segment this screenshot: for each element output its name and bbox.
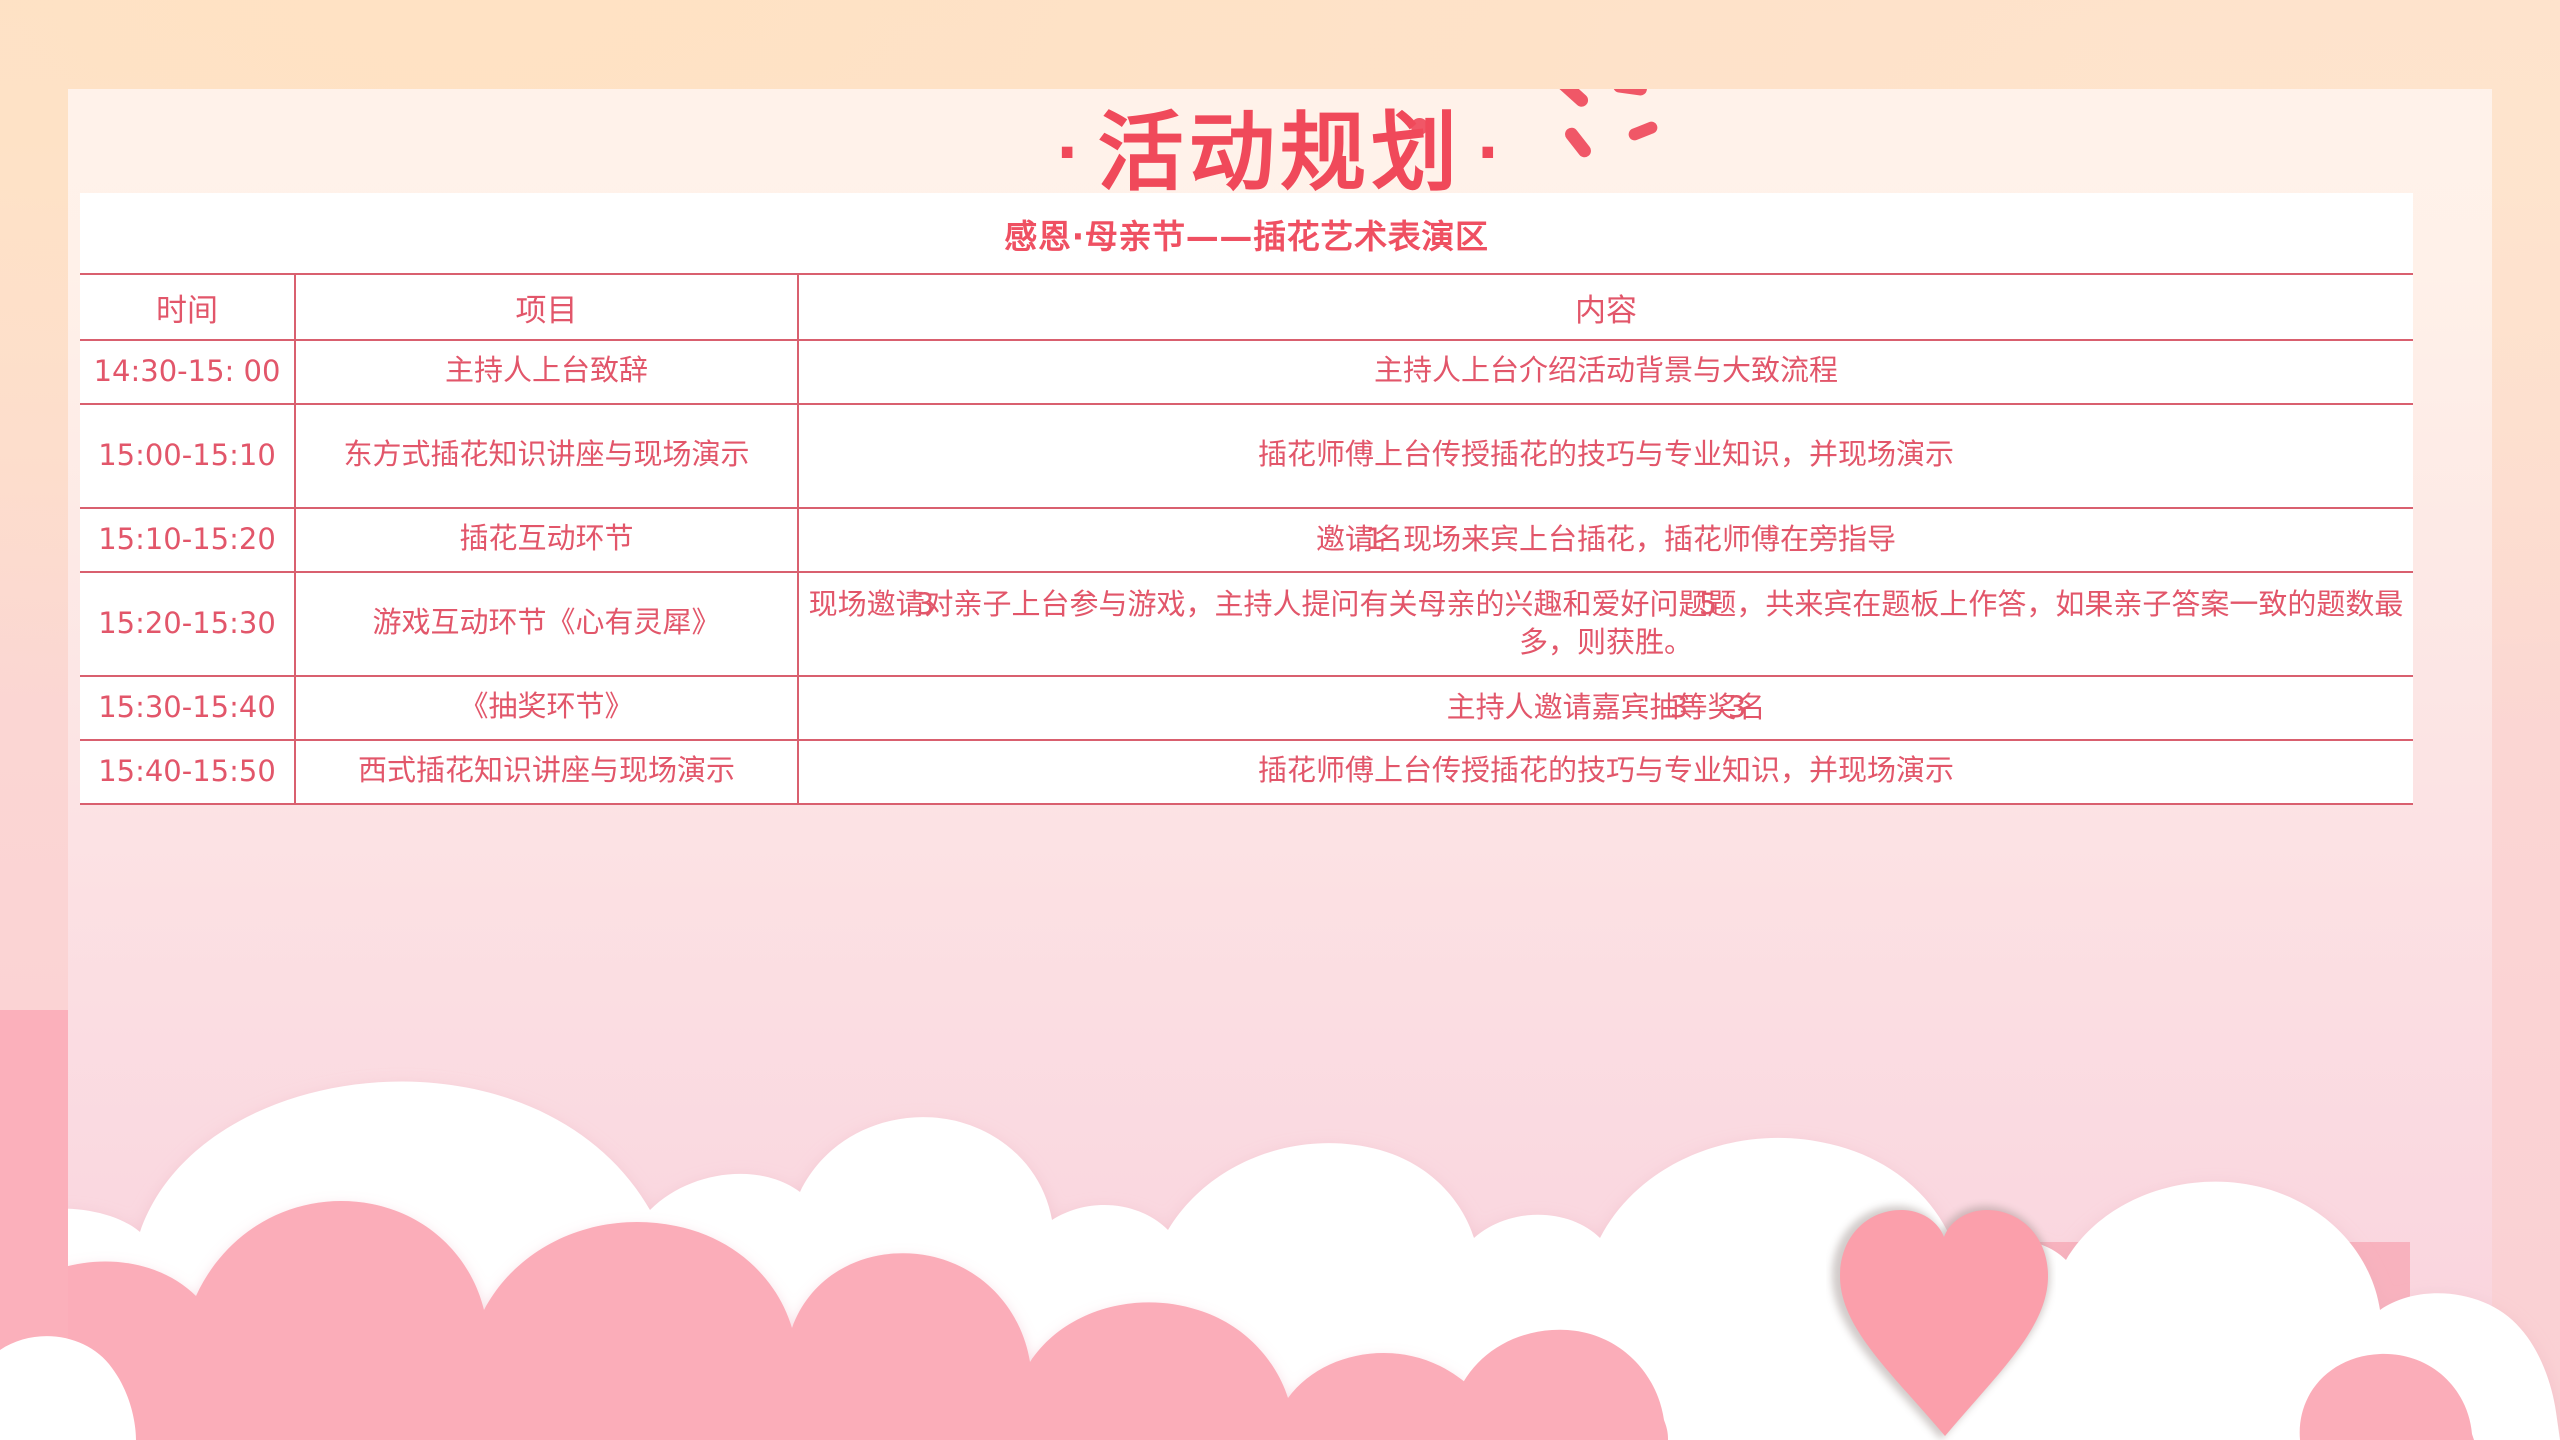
cell-detail: 邀请1名现场来宾上台插花，插花师傅在旁指导: [798, 508, 2413, 572]
detail-text-pre: 现场邀请: [809, 589, 925, 621]
cell-time: 15:20-15:30: [80, 572, 295, 676]
cell-detail: 主持人邀请嘉宾抽3等奖3名: [798, 676, 2413, 740]
page-title-text: 活动规划: [1098, 103, 1463, 203]
detail-number-2: 3: [1728, 689, 1746, 726]
detail-text-mid: 对亲子上台参与游戏，主持人提问有关母亲的兴趣和爱好问题: [924, 589, 1707, 621]
cell-detail: 插花师傅上台传授插花的技巧与专业知识，并现场演示: [798, 404, 2413, 508]
heart-icon: [1826, 1190, 2056, 1440]
cell-item: 西式插花知识讲座与现场演示: [295, 740, 798, 804]
schedule-table: 时间 项目 内容 14:30-15: 00 主持人上台致辞 主持人上台介绍活动背…: [80, 273, 2413, 805]
table-row: 15:00-15:10 东方式插花知识讲座与现场演示 插花师傅上台传授插花的技巧…: [80, 404, 2413, 508]
schedule-table-head: 时间 项目 内容: [80, 274, 2413, 340]
column-header-detail: 内容: [798, 274, 2413, 340]
detail-number-2: 5: [1699, 586, 1717, 623]
table-row: 15:10-15:20 插花互动环节 邀请1名现场来宾上台插花，插花师傅在旁指导: [80, 508, 2413, 572]
confetti-dash: [1612, 89, 1647, 96]
cell-item: 《抽奖环节》: [295, 676, 798, 740]
cell-detail: 主持人上台介绍活动背景与大致流程: [798, 340, 2413, 404]
cell-time: 14:30-15: 00: [80, 340, 295, 404]
detail-number: 3: [1670, 689, 1688, 726]
table-header-row: 时间 项目 内容: [80, 274, 2413, 340]
detail-text-pre: 主持人邀请嘉宾抽: [1447, 692, 1679, 724]
title-right-dot: ·: [1462, 123, 1518, 183]
table-row: 15:20-15:30 游戏互动环节《心有灵犀》 现场邀请3对亲子上台参与游戏，…: [80, 572, 2413, 676]
cell-time: 15:00-15:10: [80, 404, 295, 508]
column-header-time: 时间: [80, 274, 295, 340]
cell-item: 游戏互动环节《心有灵犀》: [295, 572, 798, 676]
detail-text-post: 名现场来宾上台插花，插花师傅在旁指导: [1374, 524, 1896, 556]
cell-detail: 插花师傅上台传授插花的技巧与专业知识，并现场演示: [798, 740, 2413, 804]
detail-number: 1: [1365, 521, 1383, 558]
cell-time: 15:10-15:20: [80, 508, 295, 572]
table-row: 14:30-15: 00 主持人上台致辞 主持人上台介绍活动背景与大致流程: [80, 340, 2413, 404]
cell-item: 插花互动环节: [295, 508, 798, 572]
cell-time: 15:40-15:50: [80, 740, 295, 804]
cell-item: 主持人上台致辞: [295, 340, 798, 404]
table-row: 15:40-15:50 西式插花知识讲座与现场演示 插花师傅上台传授插花的技巧与…: [80, 740, 2413, 804]
schedule-table-block: 感恩·母亲节——插花艺术表演区 时间 项目 内容 14:30-15: 00 主持…: [80, 193, 2413, 805]
confetti-dash: [1555, 89, 1590, 109]
slide-canvas: ·活动规划· 感恩·母亲节——插花艺术表演区 时间 项目 内容 14:30-15…: [0, 0, 2560, 1440]
detail-number: 3: [916, 586, 934, 623]
column-header-item: 项目: [295, 274, 798, 340]
cell-time: 15:30-15:40: [80, 676, 295, 740]
title-left-dot: ·: [1042, 123, 1098, 183]
table-row: 15:30-15:40 《抽奖环节》 主持人邀请嘉宾抽3等奖3名: [80, 676, 2413, 740]
cell-item: 东方式插花知识讲座与现场演示: [295, 404, 798, 508]
page-title-container: ·活动规划·: [0, 110, 2560, 196]
schedule-table-caption: 感恩·母亲节——插花艺术表演区: [80, 193, 2413, 273]
page-title: ·活动规划·: [1042, 110, 1519, 196]
cell-detail: 现场邀请3对亲子上台参与游戏，主持人提问有关母亲的兴趣和爱好问题5题，共来宾在题…: [798, 572, 2413, 676]
schedule-table-body: 14:30-15: 00 主持人上台致辞 主持人上台介绍活动背景与大致流程 15…: [80, 340, 2413, 804]
